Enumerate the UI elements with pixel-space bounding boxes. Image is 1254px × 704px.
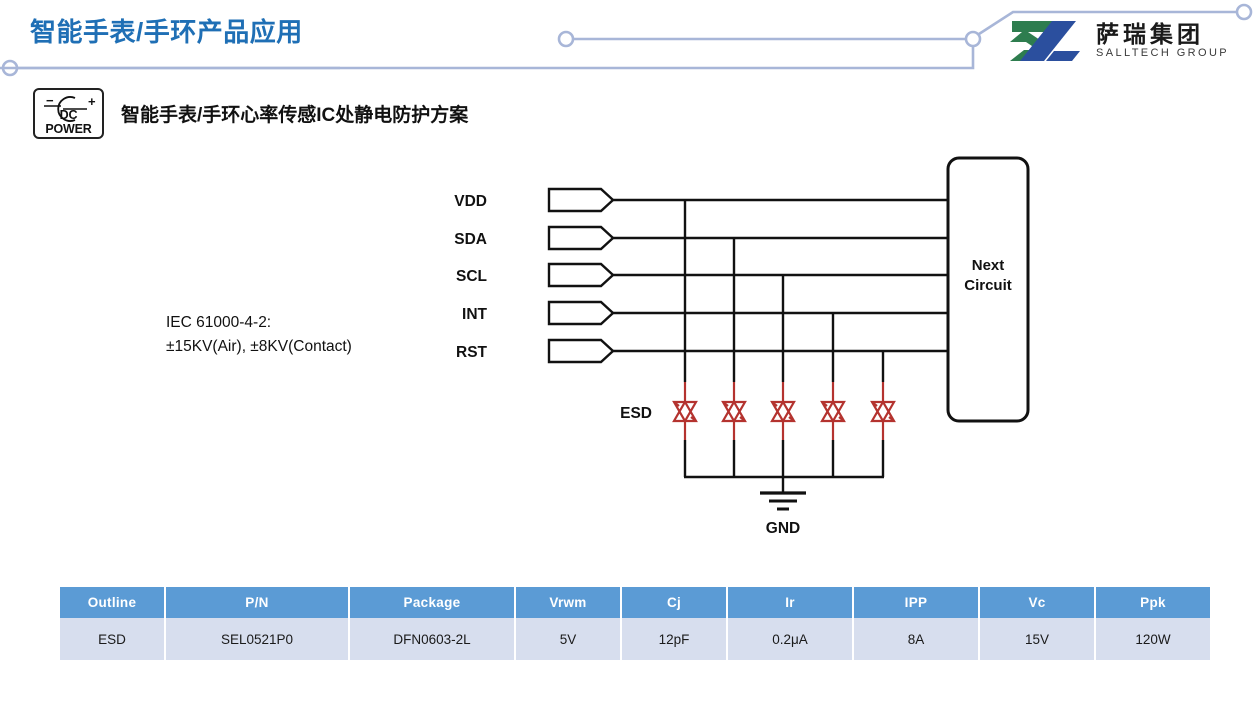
column-header-ir: Ir — [728, 587, 852, 618]
section-subtitle: 智能手表/手环心率传感IC处静电防护方案 — [121, 100, 468, 127]
svg-text:+: + — [88, 94, 96, 109]
pin-label-vdd: VDD — [454, 193, 487, 210]
esd-label: ESD — [620, 405, 652, 422]
column-header-package: Package — [350, 587, 514, 618]
cell-pn: SEL0521P0 — [166, 618, 348, 660]
column-header-cj: Cj — [622, 587, 726, 618]
logo-name-en: SALLTECH GROUP — [1096, 47, 1229, 60]
logo-name-cn: 萨瑞集团 — [1096, 22, 1229, 46]
cell-ir: 0.2μA — [728, 618, 852, 660]
pin-label-scl: SCL — [456, 268, 487, 285]
next-circuit-label-line1: Next — [972, 257, 1005, 274]
gnd-label: GND — [766, 520, 800, 537]
pin-connector-int — [549, 302, 613, 324]
esd-protection-circuit-diagram: VDD SDA SCL INT RST — [0, 140, 1060, 550]
pin-connector-vdd — [549, 189, 613, 211]
pin-label-rst: RST — [456, 344, 488, 361]
tvs-diode-1 — [674, 382, 696, 440]
cell-outline: ESD — [60, 618, 164, 660]
cell-vrwm: 5V — [516, 618, 620, 660]
tvs-diode-3 — [772, 382, 794, 440]
column-header-vrwm: Vrwm — [516, 587, 620, 618]
cell-ipp: 8A — [854, 618, 978, 660]
cell-package: DFN0603-2L — [350, 618, 514, 660]
dc-power-label: DC POWER — [35, 108, 102, 136]
column-header-pn: P/N — [166, 587, 348, 618]
dc-power-badge: − + DC POWER — [33, 88, 104, 139]
pin-connector-rst — [549, 340, 613, 362]
salltech-logo-mark — [1008, 18, 1088, 64]
column-header-ppk: Ppk — [1096, 587, 1210, 618]
tvs-diode-5 — [872, 382, 894, 440]
cell-cj: 12pF — [622, 618, 726, 660]
pin-label-int: INT — [462, 306, 488, 323]
tvs-diode-4 — [822, 382, 844, 440]
next-circuit-label-line2: Circuit — [964, 277, 1012, 294]
cell-vc: 15V — [980, 618, 1094, 660]
tvs-diode-2 — [723, 382, 745, 440]
table-header-row: Outline P/N Package Vrwm Cj Ir IPP Vc Pp… — [60, 587, 1210, 618]
pin-label-sda: SDA — [454, 231, 487, 248]
page-title: 智能手表/手环产品应用 — [30, 12, 303, 49]
table-row: ESD SEL0521P0 DFN0603-2L 5V 12pF 0.2μA 8… — [60, 618, 1210, 660]
ground-symbol — [760, 493, 806, 509]
column-header-ipp: IPP — [854, 587, 978, 618]
column-header-vc: Vc — [980, 587, 1094, 618]
brand-logo: 萨瑞集团 SALLTECH GROUP — [1008, 16, 1248, 66]
pin-connector-scl — [549, 264, 613, 286]
pin-connector-sda — [549, 227, 613, 249]
spec-table: Outline P/N Package Vrwm Cj Ir IPP Vc Pp… — [58, 587, 1212, 660]
column-header-outline: Outline — [60, 587, 164, 618]
logo-text-block: 萨瑞集团 SALLTECH GROUP — [1096, 22, 1229, 60]
cell-ppk: 120W — [1096, 618, 1210, 660]
